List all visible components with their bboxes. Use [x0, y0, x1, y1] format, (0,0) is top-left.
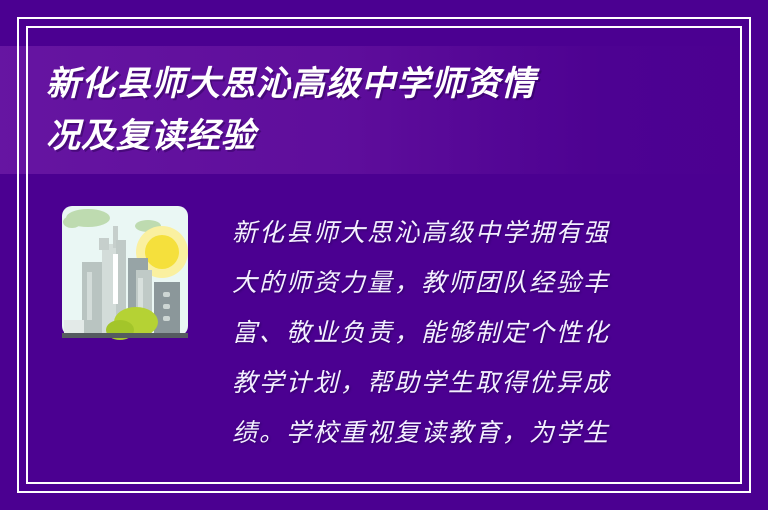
page-title-line-1: 新化县师大思沁高级中学师资情 — [46, 58, 646, 110]
page-title: 新化县师大思沁高级中学师资情 况及复读经验 — [46, 58, 646, 162]
body-line-1: 新化县师大思沁高级中学拥有强 — [232, 208, 652, 258]
body-line-5: 绩。学校重视复读教育，为学生 — [232, 408, 652, 458]
page-title-line-2: 况及复读经验 — [46, 110, 646, 162]
body-line-4: 教学计划，帮助学生取得优异成 — [232, 358, 652, 408]
body-line-2: 大的师资力量，教师团队经验丰 — [232, 258, 652, 308]
body-paragraph: 新化县师大思沁高级中学拥有强 大的师资力量，教师团队经验丰 富、敬业负责，能够制… — [232, 208, 652, 458]
poster-canvas: 新化县师大思沁高级中学师资情 况及复读经验 — [0, 0, 768, 510]
cityscape-illustration — [58, 200, 192, 342]
body-line-3: 富、敬业负责，能够制定个性化 — [232, 308, 652, 358]
